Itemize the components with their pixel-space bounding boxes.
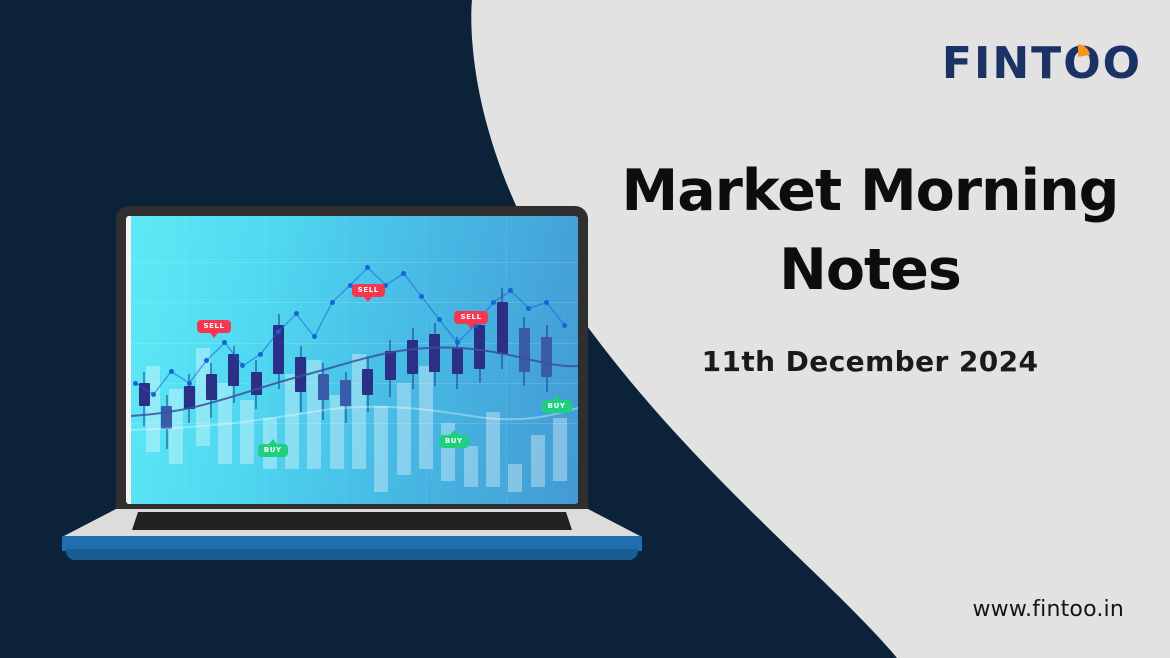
buy-badge-pointer bbox=[553, 395, 561, 400]
page-title: Market Morning Notes bbox=[600, 152, 1140, 309]
sell-signal-badge[interactable]: SELL bbox=[197, 320, 230, 333]
buy-badge-pointer bbox=[269, 439, 277, 444]
price-data-point bbox=[562, 323, 567, 328]
buy-signal-badge[interactable]: BUY bbox=[439, 435, 469, 448]
laptop-lid: SELLSELLSELLBUYBUYBUY bbox=[116, 206, 588, 513]
buy-signal-badge[interactable]: BUY bbox=[542, 400, 572, 413]
laptop-screen-bezel: SELLSELLSELLBUYBUYBUY bbox=[126, 216, 578, 504]
sell-signal-badge[interactable]: SELL bbox=[454, 311, 487, 324]
sell-badge-pointer bbox=[467, 324, 475, 329]
date-subtitle: 11th December 2024 bbox=[600, 345, 1140, 378]
laptop-illustration: SELLSELLSELLBUYBUYBUY bbox=[62, 206, 642, 558]
sell-signal-badge[interactable]: SELL bbox=[352, 284, 385, 297]
price-data-point bbox=[258, 352, 263, 357]
price-data-point bbox=[491, 300, 496, 305]
buy-signal-badge[interactable]: BUY bbox=[258, 444, 288, 457]
logo-orange-arc-icon bbox=[1063, 42, 1093, 72]
sell-badge-pointer bbox=[210, 333, 218, 338]
price-data-point bbox=[151, 392, 156, 397]
price-data-point bbox=[187, 381, 192, 386]
laptop-base-shadow bbox=[66, 549, 638, 560]
poster-canvas: FINTOO Market Morning Notes 11th Decembe… bbox=[0, 0, 1170, 658]
sell-badge-pointer bbox=[364, 297, 372, 302]
price-data-point bbox=[169, 369, 174, 374]
laptop-keyboard-area bbox=[132, 512, 572, 530]
price-data-point bbox=[276, 329, 281, 334]
price-dots-line bbox=[131, 216, 578, 504]
price-data-point bbox=[133, 381, 138, 386]
fintoo-logo[interactable]: FINTOO bbox=[942, 38, 1142, 90]
website-url[interactable]: www.fintoo.in bbox=[972, 597, 1124, 622]
buy-badge-pointer bbox=[450, 430, 458, 435]
candlestick-chart: SELLSELLSELLBUYBUYBUY bbox=[131, 216, 578, 504]
logo-wordmark: FINTOO bbox=[942, 42, 1142, 86]
price-data-point bbox=[330, 300, 335, 305]
